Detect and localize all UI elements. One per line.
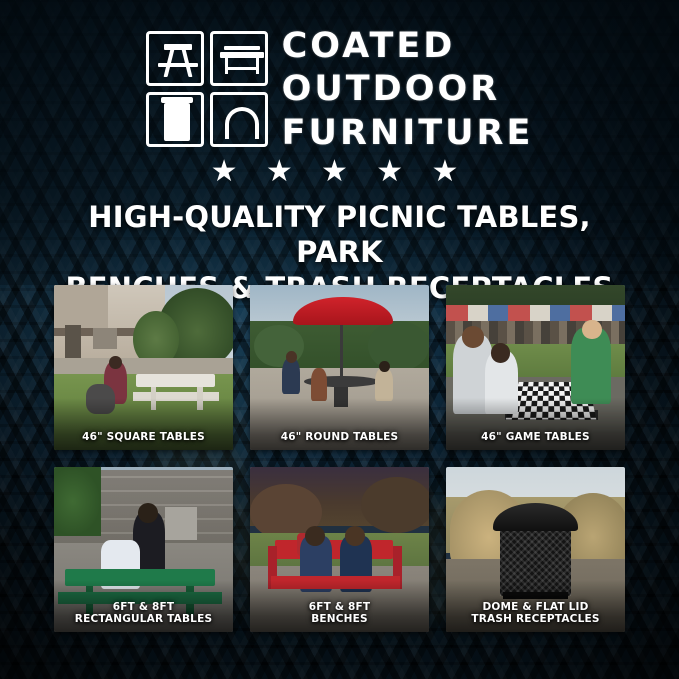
tile-caption-line-1: 6FT & 8FT	[254, 601, 425, 613]
logo-line-2: OUTDOOR	[282, 69, 534, 110]
tile-caption-line-2: TRASH RECEPTACLES	[450, 613, 621, 625]
tile-rectangular-tables[interactable]: 6FT & 8FT RECTANGULAR TABLES	[54, 467, 233, 632]
logo-line-1: COATED	[282, 26, 534, 67]
product-tile-grid: 46" SQUARE TABLES 46" ROUND TABLES	[54, 285, 625, 632]
tile-caption: 46" SQUARE TABLES	[54, 431, 233, 443]
tile-caption: 6FT & 8FT RECTANGULAR TABLES	[54, 601, 233, 625]
brand-logo: COATED OUTDOOR FURNITURE	[0, 24, 679, 154]
dome-lid-icon	[210, 92, 268, 147]
tile-caption-line-2: BENCHES	[254, 613, 425, 625]
tile-caption-line-1: DOME & FLAT LID	[450, 601, 621, 613]
picnic-table-icon	[146, 31, 204, 86]
tile-game-tables[interactable]: 46" GAME TABLES	[446, 285, 625, 450]
logo-wordmark: COATED OUTDOOR FURNITURE	[282, 24, 534, 154]
logo-icon-grid	[146, 31, 268, 147]
trash-receptacle-icon	[146, 92, 204, 147]
tile-caption: 6FT & 8FT BENCHES	[250, 601, 429, 625]
star-rating: ★ ★ ★ ★ ★	[0, 157, 679, 187]
tile-trash-receptacles[interactable]: DOME & FLAT LID TRASH RECEPTACLES	[446, 467, 625, 632]
headline-line-1: HIGH-QUALITY PICNIC TABLES, PARK	[40, 200, 639, 271]
tile-square-tables[interactable]: 46" SQUARE TABLES	[54, 285, 233, 450]
tile-round-tables[interactable]: 46" ROUND TABLES	[250, 285, 429, 450]
tile-caption: 46" GAME TABLES	[446, 431, 625, 443]
tile-caption-line-1: 6FT & 8FT	[58, 601, 229, 613]
logo-line-3: FURNITURE	[282, 113, 534, 154]
tile-caption-line-2: RECTANGULAR TABLES	[58, 613, 229, 625]
tile-caption: 46" ROUND TABLES	[250, 431, 429, 443]
product-banner-image: COATED OUTDOOR FURNITURE ★ ★ ★ ★ ★ HIGH-…	[0, 0, 679, 679]
tile-caption: DOME & FLAT LID TRASH RECEPTACLES	[446, 601, 625, 625]
tile-benches[interactable]: 6FT & 8FT BENCHES	[250, 467, 429, 632]
bench-icon	[210, 31, 268, 86]
